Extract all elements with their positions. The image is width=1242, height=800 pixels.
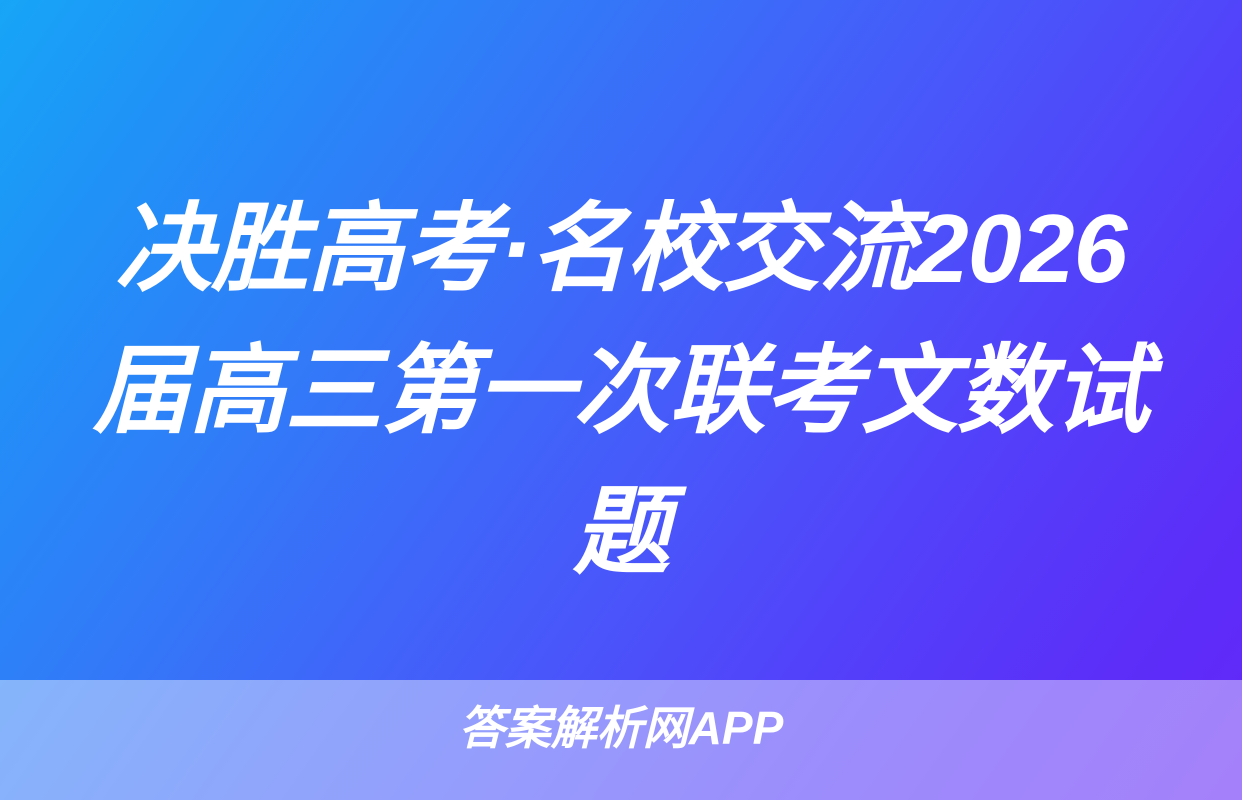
poster-canvas: 决胜高考·名校交流2026届高三第一次联考文数试题 答案解析网APP bbox=[0, 0, 1242, 800]
watermark-brand: 答案解析网APP bbox=[0, 703, 1242, 754]
page-title: 决胜高考·名校交流2026届高三第一次联考文数试题 bbox=[0, 178, 1242, 603]
